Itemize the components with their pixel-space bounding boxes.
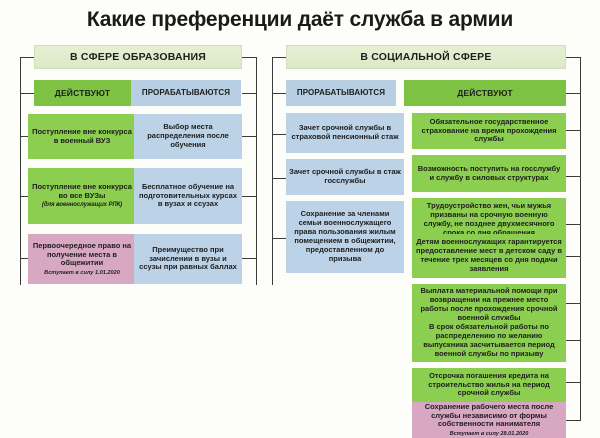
column-label-text: ПРОРАБАТЫВАЮТСЯ	[297, 88, 385, 97]
item-text: Детям военнослужащих гарантируется предо…	[415, 238, 563, 273]
item-text: Отсрочка погашения кредита на строительс…	[415, 372, 563, 399]
bracket-left-outer	[20, 57, 21, 285]
bracket-right-outer-to-header	[566, 57, 581, 58]
bracket-mid-to-item-0	[242, 136, 257, 137]
bracket-mid-outer	[256, 57, 257, 285]
item-note: (для военнослужащих РПК)	[42, 202, 122, 209]
bracket-right-inner	[272, 57, 273, 285]
section-header-label: В СФЕРЕ ОБРАЗОВАНИЯ	[70, 51, 206, 63]
column-label-text: ДЕЙСТВУЮТ	[55, 88, 111, 98]
item-text: Обязательное государственное страхование…	[415, 118, 563, 145]
bracket-right-outer-to-item-5	[566, 340, 581, 341]
item-social-active-1: Возможность поступить на госслужбу и слу…	[412, 155, 566, 192]
bracket-right-outer	[580, 57, 581, 421]
bracket-right-outer-to-item-0	[566, 130, 581, 131]
bracket-right-inner-to-item-2	[272, 238, 286, 239]
item-education-planned-0: Выбор места распределения после обучения	[134, 114, 242, 159]
item-text: Зачет срочной службы в стаж госслужбы	[289, 168, 401, 186]
bracket-right-inner-to-sub	[272, 93, 286, 94]
item-text: Сохранение за членами семьи военнослужащ…	[289, 210, 401, 263]
bracket-mid-to-sub	[242, 93, 257, 94]
item-text: Сохранение рабочего места после службы н…	[415, 403, 563, 430]
column-label-text: ДЕЙСТВУЮТ	[457, 88, 513, 98]
bracket-mid-to-item-1	[242, 196, 257, 197]
item-text: Поступление вне конкурса в военный ВУЗ	[31, 128, 133, 146]
item-text: Возможность поступить на госслужбу и слу…	[415, 165, 563, 183]
item-education-active-0: Поступление вне конкурса в военный ВУЗ	[28, 114, 136, 159]
page-title: Какие преференции даёт служба в армии	[0, 8, 600, 32]
bracket-right-outer-to-item-3	[566, 256, 581, 257]
item-text: Выбор места распределения после обучения	[137, 123, 239, 150]
item-social-planned-0: Зачет срочной службы в страховой пенсион…	[286, 113, 404, 153]
item-social-active-7: Сохранение рабочего места после службы н…	[412, 402, 566, 438]
item-social-planned-2: Сохранение за членами семьи военнослужащ…	[286, 201, 404, 273]
column-label-social-planned: ПРОРАБАТЫВАЮТСЯ	[286, 80, 396, 106]
item-social-active-3: Детям военнослужащих гарантируется предо…	[412, 234, 566, 278]
bracket-mid-to-header	[242, 57, 257, 58]
bracket-right-outer-to-item-7	[566, 420, 581, 421]
bracket-right-outer-to-item-1	[566, 176, 581, 177]
section-header-education: В СФЕРЕ ОБРАЗОВАНИЯ	[34, 45, 242, 69]
infographic-canvas: Какие преференции даёт служба в армии В …	[0, 0, 600, 438]
bracket-right-inner-to-item-0	[272, 134, 286, 135]
bracket-right-outer-to-sub	[566, 93, 581, 94]
item-education-active-1: Поступление вне конкурса во все ВУЗы (дл…	[28, 168, 136, 224]
item-text: Преимущество при зачислении в вузы и ссу…	[137, 246, 239, 273]
item-text: Зачет срочной службы в страховой пенсион…	[289, 124, 401, 142]
item-education-active-2: Первоочередное право на получение места …	[28, 234, 136, 284]
bracket-right-inner-to-header	[272, 57, 286, 58]
column-label-social-active: ДЕЙСТВУЮТ	[404, 80, 566, 106]
section-header-label: В СОЦИАЛЬНОЙ СФЕРЕ	[360, 51, 491, 63]
item-text: В срок обязательной работы по распределе…	[415, 323, 563, 358]
bracket-mid-to-item-2	[242, 258, 257, 259]
item-text: Поступление вне конкурса во все ВУЗы	[31, 183, 133, 201]
bracket-right-outer-to-item-6	[566, 382, 581, 383]
bracket-right-outer-to-item-4	[566, 303, 581, 304]
item-social-active-5: В срок обязательной работы по распределе…	[412, 320, 566, 362]
item-text: Бесплатное обучение на подготовительных …	[137, 183, 239, 210]
bracket-right-inner-to-item-1	[272, 178, 286, 179]
item-effective-date: Вступает в силу 1.01.2020	[44, 270, 120, 277]
bracket-right-outer-to-item-2	[566, 224, 581, 225]
bracket-left-to-sub	[20, 93, 34, 94]
section-header-social: В СОЦИАЛЬНОЙ СФЕРЕ	[286, 45, 566, 69]
item-education-planned-1: Бесплатное обучение на подготовительных …	[134, 168, 242, 224]
item-social-planned-1: Зачет срочной службы в стаж госслужбы	[286, 159, 404, 195]
column-label-text: ПРОРАБАТЫВАЮТСЯ	[142, 88, 230, 97]
item-text: Трудоустройство жен, чьи мужья призваны …	[415, 202, 563, 237]
item-social-active-0: Обязательное государственное страхование…	[412, 113, 566, 149]
item-effective-date: Вступает в силу 28.01.2020	[450, 431, 529, 438]
item-social-active-6: Отсрочка погашения кредита на строительс…	[412, 368, 566, 402]
column-label-education-planned: ПРОРАБАТЫВАЮТСЯ	[131, 80, 241, 106]
bracket-left-to-header	[20, 57, 34, 58]
item-education-planned-2: Преимущество при зачислении в вузы и ссу…	[134, 234, 242, 284]
column-label-education-active: ДЕЙСТВУЮТ	[34, 80, 131, 106]
item-text: Выплата материальной помощи при возвраще…	[415, 287, 563, 322]
item-text: Первоочередное право на получение места …	[31, 242, 133, 269]
